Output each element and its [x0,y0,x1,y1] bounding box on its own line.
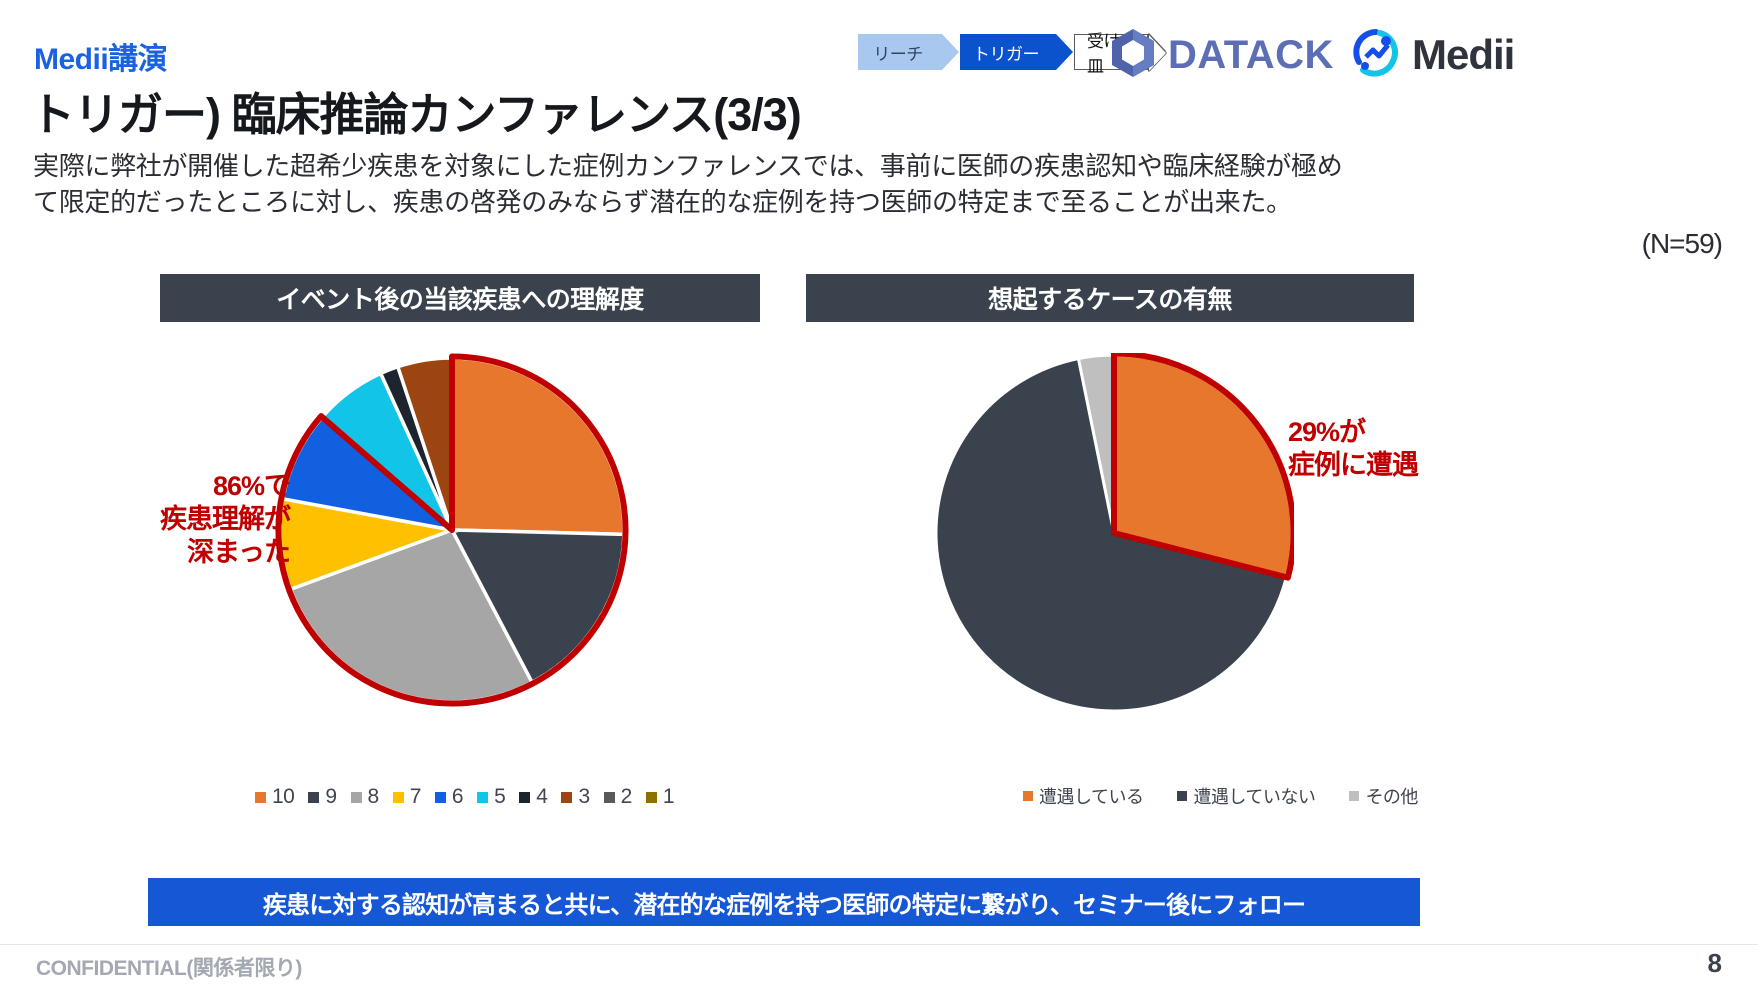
legend-swatch-icon [255,792,266,803]
legend-swatch-icon [1177,791,1187,801]
legend-item-遭遇している[interactable]: 遭遇している [1023,783,1143,809]
legend-item-6[interactable]: 6 [435,785,463,809]
legend-swatch-icon [604,792,615,803]
eyebrow-label: Medii講演 [34,34,167,78]
callout-left-line-3: 深まった [158,536,290,569]
legend-item-5[interactable]: 5 [477,785,505,809]
legend-swatch-icon [519,792,530,803]
footer-divider [0,944,1758,945]
confidential-label: CONFIDENTIAL(関係者限り) [36,952,302,982]
legend-label: 4 [536,785,547,809]
datack-hexagon-icon [1110,28,1156,83]
legend-swatch-icon [435,792,446,803]
datack-wordmark: DATACK [1168,33,1334,78]
legend-item-その他[interactable]: その他 [1349,783,1418,809]
legend-item-3[interactable]: 3 [561,785,589,809]
callout-left-line-2: 疾患理解が [158,503,290,536]
legend-swatch-icon [393,792,404,803]
breadcrumb-item-reach[interactable]: リーチ [858,34,942,70]
legend-label: 3 [578,785,589,809]
breadcrumb-label-reach: リーチ [873,40,923,65]
legend-label: 9 [325,785,336,809]
callout-right: 29%が 症例に遭遇 [1288,416,1508,482]
lead-line-2: て限定的だったところに対し、疾患の啓発のみならず潜在的な症例を持つ医師の特定まで… [33,184,1433,220]
summary-banner: 疾患に対する認知が高まると共に、潜在的な症例を持つ医師の特定に繋がり、セミナー後… [148,878,1420,926]
legend-label: 7 [410,785,421,809]
legend-swatch-icon [1023,791,1033,801]
legend-swatch-icon [477,792,488,803]
legend-swatch-icon [1349,791,1359,801]
legend-label: 6 [452,785,463,809]
legend-case-recall: 遭遇している遭遇していないその他 [1023,783,1418,809]
chart-title-left: イベント後の当該疾患への理解度 [160,274,760,322]
pie-chart-case-recall [934,353,1294,713]
slide-root: Medii講演 トリガー) 臨床推論カンファレンス(3/3) 実際に弊社が開催し… [0,0,1758,988]
pie-slice-10[interactable] [452,358,624,534]
legend-label: その他 [1365,783,1418,809]
chart-title-right: 想起するケースの有無 [806,274,1414,322]
legend-swatch-icon [646,792,657,803]
legend-understanding: 10987654321 [255,785,674,809]
legend-item-2[interactable]: 2 [604,785,632,809]
pie-chart-case-recall-svg [934,353,1294,713]
breadcrumb-item-trigger[interactable]: トリガー [960,34,1056,70]
datack-logo: DATACK [1110,28,1334,83]
medii-mark-icon [1350,26,1402,83]
legend-label: 5 [494,785,505,809]
legend-item-8[interactable]: 8 [351,785,379,809]
legend-item-7[interactable]: 7 [393,785,421,809]
legend-swatch-icon [561,792,572,803]
legend-label: 遭遇している [1039,783,1143,809]
legend-label: 2 [621,785,632,809]
breadcrumb-label-trigger: トリガー [973,40,1039,65]
legend-item-4[interactable]: 4 [519,785,547,809]
lead-line-1: 実際に弊社が開催した超希少疾患を対象にした症例カンファレンスでは、事前に医師の疾… [33,148,1433,184]
legend-item-9[interactable]: 9 [308,785,336,809]
breadcrumb: リーチ トリガー 受け皿 [858,34,1150,70]
legend-swatch-icon [351,792,362,803]
callout-left: 86%で 疾患理解が 深まった [158,470,290,569]
legend-label: 1 [663,785,674,809]
pie-chart-understanding-svg [272,350,632,710]
callout-right-line-2: 症例に遭遇 [1288,449,1508,482]
legend-item-遭遇していない[interactable]: 遭遇していない [1177,783,1315,809]
medii-logo: Medii [1350,26,1514,83]
sample-size-label: (N=59) [1642,228,1722,260]
callout-left-line-1: 86%で [158,470,290,503]
pie-chart-understanding [272,350,632,710]
page-title: トリガー) 臨床推論カンファレンス(3/3) [30,78,801,143]
legend-label: 8 [368,785,379,809]
legend-label: 10 [272,785,294,809]
legend-item-10[interactable]: 10 [255,785,294,809]
legend-label: 遭遇していない [1193,783,1315,809]
legend-swatch-icon [308,792,319,803]
legend-item-1[interactable]: 1 [646,785,674,809]
callout-right-line-1: 29%が [1288,416,1508,449]
page-number: 8 [1708,948,1722,979]
lead-paragraph: 実際に弊社が開催した超希少疾患を対象にした症例カンファレンスでは、事前に医師の疾… [33,148,1433,221]
medii-wordmark: Medii [1412,31,1514,79]
